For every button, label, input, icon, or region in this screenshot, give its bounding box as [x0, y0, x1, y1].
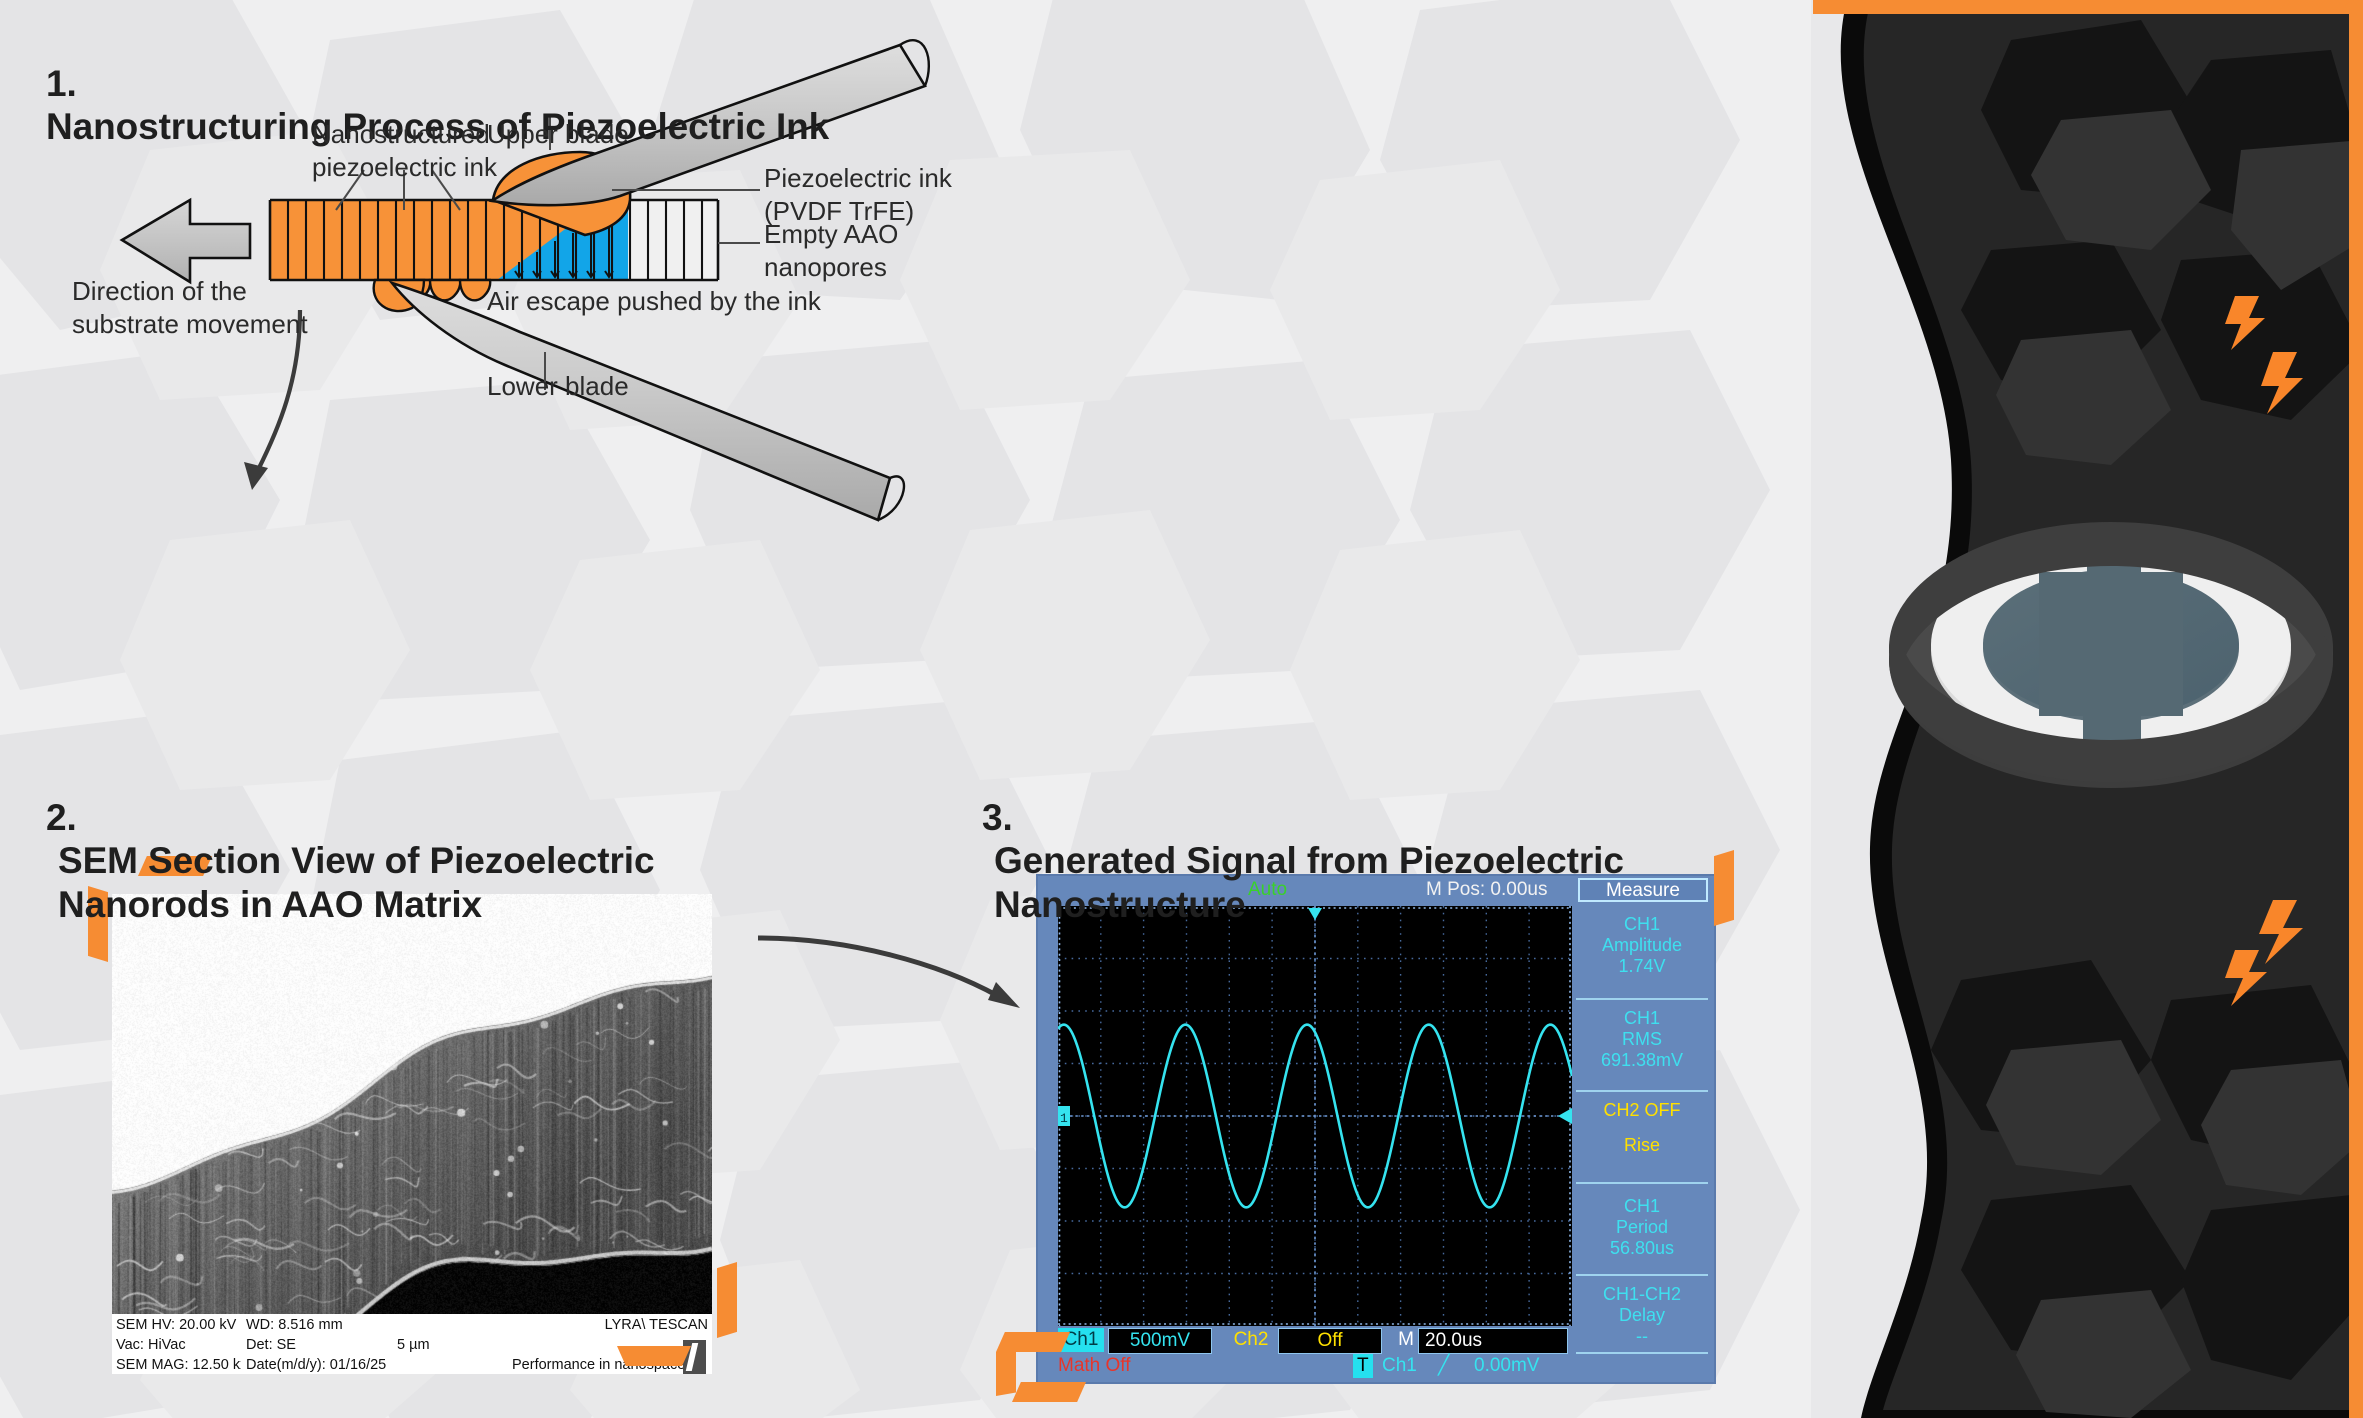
accent-bar-top [1813, 0, 2363, 14]
measure-2-line2: Rise [1576, 1135, 1708, 1156]
tescan-logo-icon [683, 1340, 706, 1374]
scope-ch2-value[interactable]: Off [1278, 1328, 1382, 1354]
sem-wd: WD: 8.516 mm [246, 1315, 406, 1335]
panel1-heading-number: 1. [46, 63, 77, 104]
sem-vendor: LYRA\ TESCAN [512, 1315, 708, 1335]
scope-trigger-source: Ch1 [1382, 1354, 1417, 1378]
svg-text:1: 1 [1060, 1111, 1068, 1126]
panel3-heading: 3. Generated Signal from Piezoelectric N… [982, 752, 1702, 927]
trigger-badge-letter: T [1353, 1354, 1373, 1378]
measure-2-line1: CH2 OFF [1576, 1100, 1708, 1121]
scope-ch1-value[interactable]: 500mV [1108, 1328, 1212, 1354]
scope-corner-bottom-mid [1012, 1382, 1086, 1402]
scope-math-status[interactable]: Math Off [1058, 1354, 1131, 1378]
ch1-ground-marker: 1 [1058, 1106, 1070, 1126]
accent-bar-right [2349, 0, 2363, 1418]
measure-4-line1: CH1-CH2 [1576, 1284, 1708, 1305]
corner-accent-bottom-right-h [617, 1346, 691, 1366]
measure-1-value: 691.38mV [1576, 1050, 1708, 1071]
scope-trigger-slope-icon: ╱ [1438, 1354, 1449, 1378]
label-lower-blade: Lower blade [487, 370, 707, 403]
scope-trigger-badge: T [1353, 1354, 1373, 1378]
scope-m-label: M [1396, 1328, 1416, 1352]
oscilloscope-display[interactable]: Auto M Pos: 0.00us Measure [1036, 874, 1716, 1384]
measure-3-line1: CH1 [1576, 1196, 1708, 1217]
scope-trigger-level: 0.00mV [1474, 1354, 1539, 1378]
panel2-heading-number: 2. [46, 797, 77, 838]
sem-hv: SEM HV: 20.00 kV [116, 1315, 241, 1335]
measure-ch1-rms[interactable]: CH1 RMS 691.38mV [1576, 998, 1708, 1090]
measure-0-line2: Amplitude [1576, 935, 1708, 956]
label-upper-blade: Upper blade [487, 118, 707, 151]
scope-corner-bottom-left-h [996, 1332, 1070, 1352]
measure-1-line2: RMS [1576, 1029, 1708, 1050]
measure-1-line1: CH1 [1576, 1008, 1708, 1029]
panel3-heading-number: 3. [982, 797, 1013, 838]
measure-ch1-period[interactable]: CH1 Period 56.80us [1576, 1182, 1708, 1274]
measure-3-line2: Period [1576, 1217, 1708, 1238]
piezo-sensor-artwork [1811, 0, 2363, 1418]
label-substrate-direction: Direction of the substrate movement [72, 275, 392, 340]
scope-waveform-area[interactable]: 1 [1058, 906, 1572, 1326]
panel3-heading-text: Generated Signal from Piezoelectric Nano… [994, 839, 1624, 926]
panel2-heading-text: SEM Section View of Piezoelectric Nanoro… [58, 839, 654, 926]
scope-ch2-label[interactable]: Ch2 [1228, 1328, 1274, 1352]
sem-image-block: SEM HV: 20.00 kV Vac: HiVac SEM MAG: 12.… [92, 874, 712, 1374]
sem-mag: SEM MAG: 12.50 kx [116, 1355, 241, 1375]
scope-measurement-panel: CH1 Amplitude 1.74V CH1 RMS 691.38mV CH2… [1576, 906, 1708, 1354]
substrate-direction-arrow [122, 200, 250, 282]
measure-0-value: 1.74V [1576, 956, 1708, 977]
panel2-heading: 2. SEM Section View of Piezoelectric Nan… [46, 752, 746, 927]
measure-ch2-off[interactable]: CH2 OFF Rise [1576, 1090, 1708, 1182]
measure-3-value: 56.80us [1576, 1238, 1708, 1259]
sem-date: Date(m/d/y): 01/16/25 [246, 1355, 406, 1375]
scope-corner-top-right-v [1714, 850, 1734, 926]
sem-micrograph-canvas [112, 894, 712, 1314]
sem-vac: Vac: HiVac [116, 1335, 241, 1355]
scope-settings-bar: Ch1 500mV Ch2 Off M 20.0us Math Off T Ch… [1038, 1328, 1718, 1384]
scope-timebase-value[interactable]: 20.0us [1418, 1328, 1568, 1354]
scope-corner-bottom-left-v [996, 1352, 1016, 1396]
measure-4-line2: Delay [1576, 1305, 1708, 1326]
sem-det: Det: SE [246, 1335, 406, 1355]
sem-micrograph [112, 894, 712, 1314]
sem-metadata-bar: SEM HV: 20.00 kV Vac: HiVac SEM MAG: 12.… [112, 1314, 712, 1374]
corner-accent-bottom-right-v [717, 1262, 737, 1338]
label-empty-aao-nanopores: Empty AAO nanopores [764, 218, 1054, 283]
label-air-escape: Air escape pushed by the ink [487, 285, 957, 318]
